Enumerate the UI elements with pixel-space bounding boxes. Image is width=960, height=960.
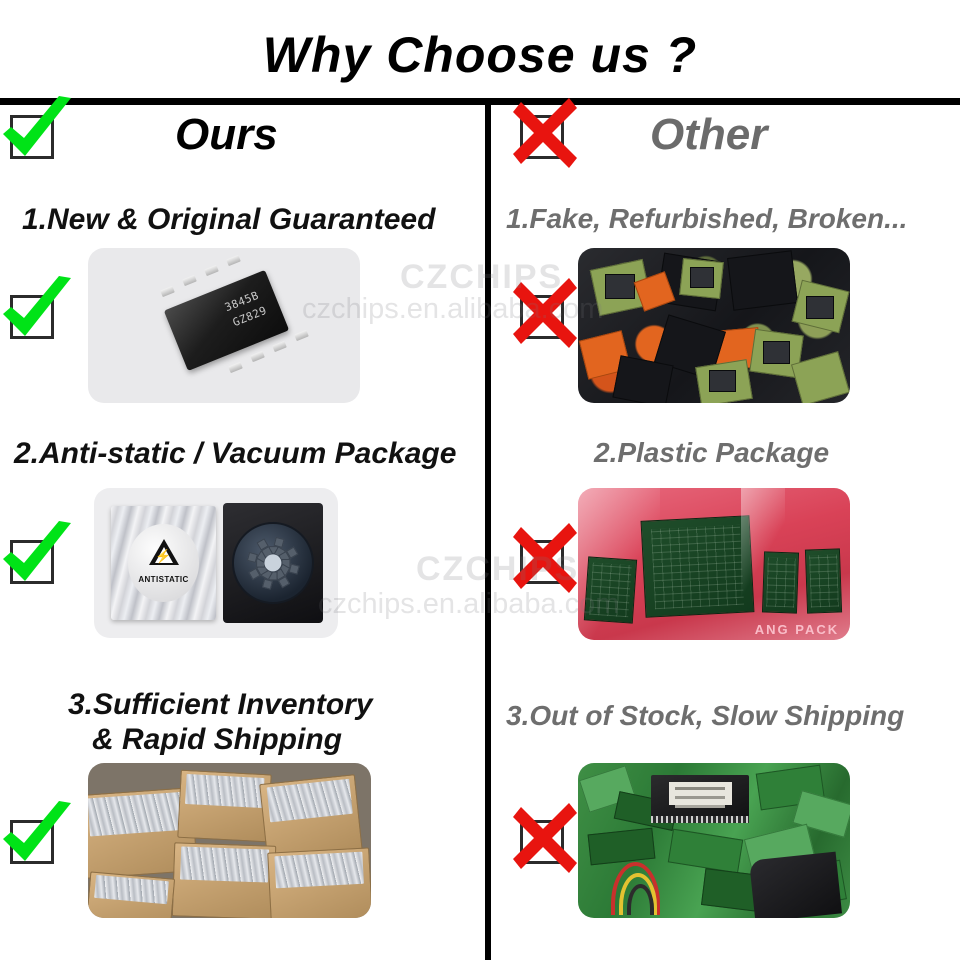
page-title: Why Choose us ?	[0, 26, 960, 84]
check-icon	[0, 274, 75, 352]
column-header-other: Other	[650, 110, 767, 160]
check-mark-box-row-2	[10, 540, 54, 584]
close-icon	[507, 274, 585, 352]
check-mark-box-row-1	[10, 295, 54, 339]
header-divider-rule	[0, 98, 960, 105]
other-item-2-heading: 2.Plastic Package	[594, 437, 829, 468]
cross-mark-box-row-3	[520, 820, 564, 864]
close-icon	[507, 94, 585, 172]
ours-item-3-heading-line-1: 3.Sufficient Inventory	[68, 688, 373, 722]
other-item-3-heading: 3.Out of Stock, Slow Shipping	[506, 700, 904, 731]
check-mark-box-header	[10, 115, 54, 159]
inventory-boxes-photo	[88, 763, 371, 918]
plastic-package-photo: ANG PACK	[578, 488, 850, 640]
check-icon	[0, 519, 75, 597]
column-divider-rule	[485, 105, 491, 960]
ours-item-3-heading-line-2: & Rapid Shipping	[92, 723, 342, 757]
check-mark-box-row-3	[10, 820, 54, 864]
pcb-scrap-photo	[578, 763, 850, 918]
antistatic-label: ANTISTATIC	[138, 575, 188, 584]
check-icon	[0, 799, 75, 877]
ours-item-1-heading: 1.New & Original Guaranteed	[22, 203, 435, 237]
check-icon	[0, 94, 75, 172]
close-icon	[507, 519, 585, 597]
antistatic-vacuum-package-photo: ⚡ ANTISTATIC	[94, 488, 338, 638]
lightning-bolt-icon: ⚡	[155, 550, 171, 563]
black-module	[651, 775, 749, 818]
column-header-ours: Ours	[175, 110, 278, 160]
ours-item-2-heading: 2.Anti-static / Vacuum Package	[14, 437, 456, 471]
dark-object	[749, 852, 842, 918]
new-original-chip-photo: 3845B GZ829	[88, 248, 360, 403]
vacuum-sealed-reel	[223, 503, 323, 623]
cross-mark-box-header	[520, 115, 564, 159]
plastic-bag-text: ANG PACK	[755, 622, 839, 637]
antistatic-bag: ⚡ ANTISTATIC	[111, 506, 216, 620]
other-item-1-heading: 1.Fake, Refurbished, Broken...	[506, 203, 907, 234]
close-icon	[507, 799, 585, 877]
scrap-chips-photo	[578, 248, 850, 403]
why-choose-us-comparison-graphic: Why Choose us ? Ours Other 1.New & Origi…	[0, 0, 960, 960]
cross-mark-box-row-1	[520, 295, 564, 339]
cross-mark-box-row-2	[520, 540, 564, 584]
